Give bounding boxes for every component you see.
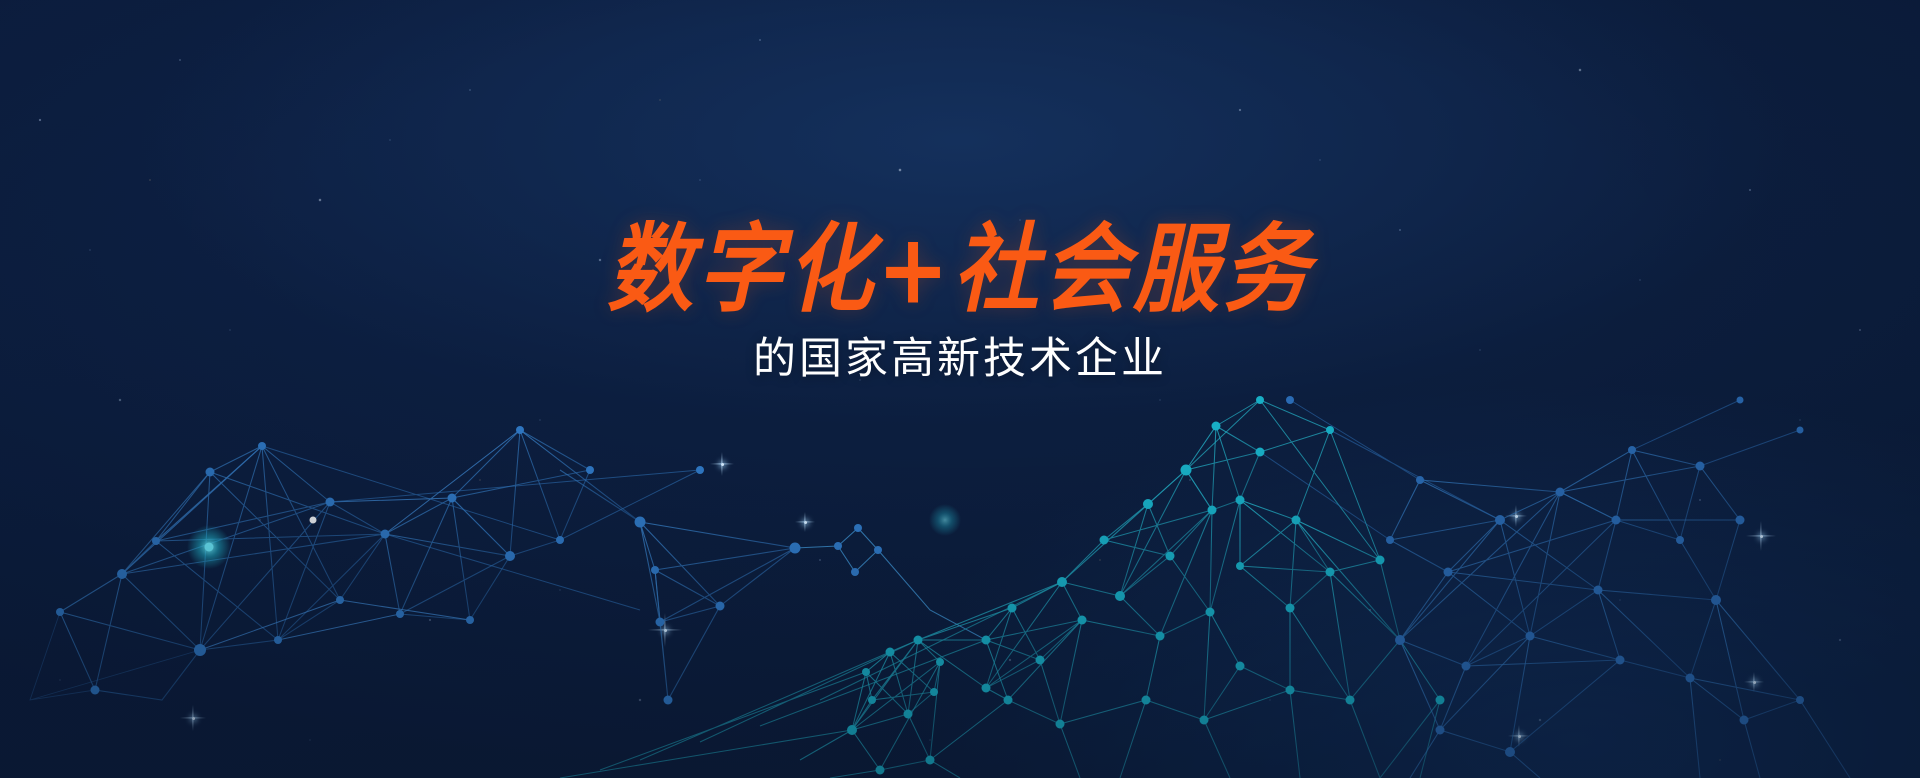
banner-title: 数字化+社会服务 (0, 222, 1920, 318)
banner-copy: 数字化+社会服务 的国家高新技术企业 (0, 222, 1920, 381)
banner-subtitle: 的国家高新技术企业 (0, 338, 1920, 381)
network-mesh-graphic (0, 0, 1920, 778)
hero-banner: 数字化+社会服务 的国家高新技术企业 (0, 0, 1920, 778)
